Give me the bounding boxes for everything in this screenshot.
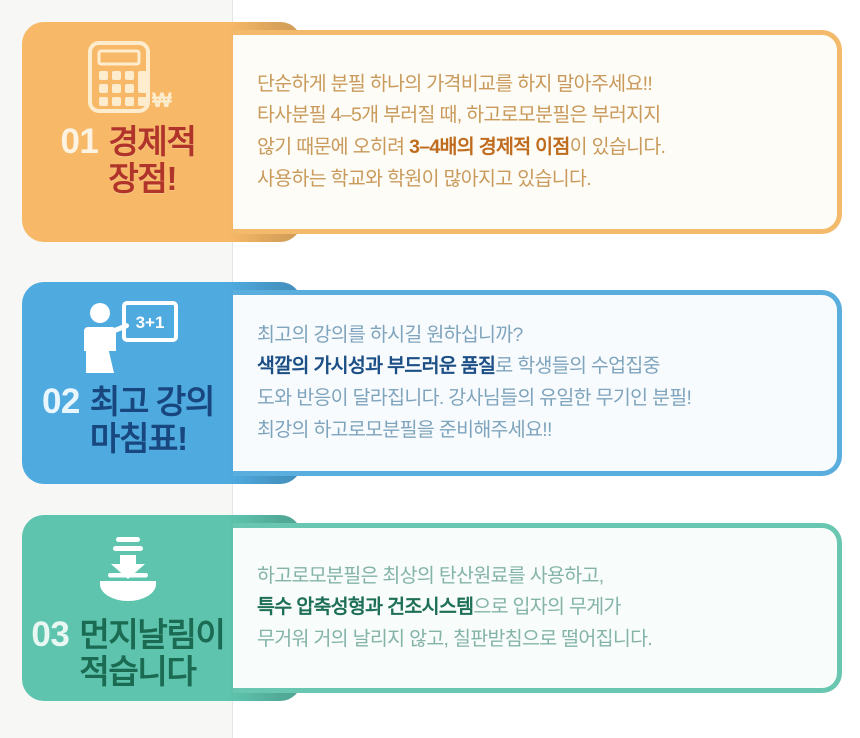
benefit-tile-3-content: 03 먼지날림이 적습니다 (22, 515, 234, 701)
benefit-caption-1: 01 경제적 장점! (60, 122, 195, 198)
benefit-title-2: 최고 강의 마침표! (90, 384, 214, 458)
benefit-panel-2: 최고의 강의를 하시길 원하십니까? 색깔의 가시성과 부드러운 품질로 학생들… (233, 290, 842, 476)
blackboard-label: 3+1 (136, 313, 165, 332)
benefit-body-1: 단순하게 분필 하나의 가격비교를 하지 말아주세요!! 타사분필 4–5개 부… (257, 69, 811, 195)
benefit-title-3: 먼지날림이 적습니다 (79, 617, 224, 691)
benefit-row-3: 03 먼지날림이 적습니다 하고로모분필은 최상의 탄산원료를 사용하고, 특수… (0, 515, 860, 701)
benefit-panel-3: 하고로모분필은 최상의 탄산원료를 사용하고, 특수 압축성형과 건조시스템으로… (233, 523, 842, 693)
benefit-row-2: 3+1 02 최고 강의 마침표! 최고의 강의를 하시길 원하십니까? 색깔의… (0, 282, 860, 484)
benefit-number-1: 01 (60, 124, 98, 161)
benefit-caption-2: 02 최고 강의 마침표! (42, 382, 214, 458)
calculator-won-icon: ₩ (82, 36, 174, 122)
dust-falling-tray-icon (82, 529, 174, 615)
teacher-blackboard-icon: 3+1 (74, 296, 182, 382)
benefit-tile-1-content: ₩ 01 경제적 장점! (22, 22, 234, 242)
benefit-panel-1: 단순하게 분필 하나의 가격비교를 하지 말아주세요!! 타사분필 4–5개 부… (233, 30, 842, 234)
benefit-number-3: 03 (31, 617, 69, 654)
svg-text:₩: ₩ (152, 89, 172, 112)
benefit-title-1: 경제적 장점! (108, 124, 195, 198)
benefit-row-1: ₩ 01 경제적 장점! 단순하게 분필 하나의 가격비교를 하지 말아주세요!… (0, 22, 860, 242)
benefit-body-3: 하고로모분필은 최상의 탄산원료를 사용하고, 특수 압축성형과 건조시스템으로… (257, 561, 811, 656)
benefit-tile-2-content: 3+1 02 최고 강의 마침표! (22, 282, 234, 484)
benefit-body-2: 최고의 강의를 하시길 원하십니까? 색깔의 가시성과 부드러운 품질로 학생들… (257, 320, 811, 446)
benefit-number-2: 02 (42, 384, 80, 421)
benefits-board: ₩ 01 경제적 장점! 단순하게 분필 하나의 가격비교를 하지 말아주세요!… (0, 0, 860, 738)
benefit-caption-3: 03 먼지날림이 적습니다 (31, 615, 224, 691)
